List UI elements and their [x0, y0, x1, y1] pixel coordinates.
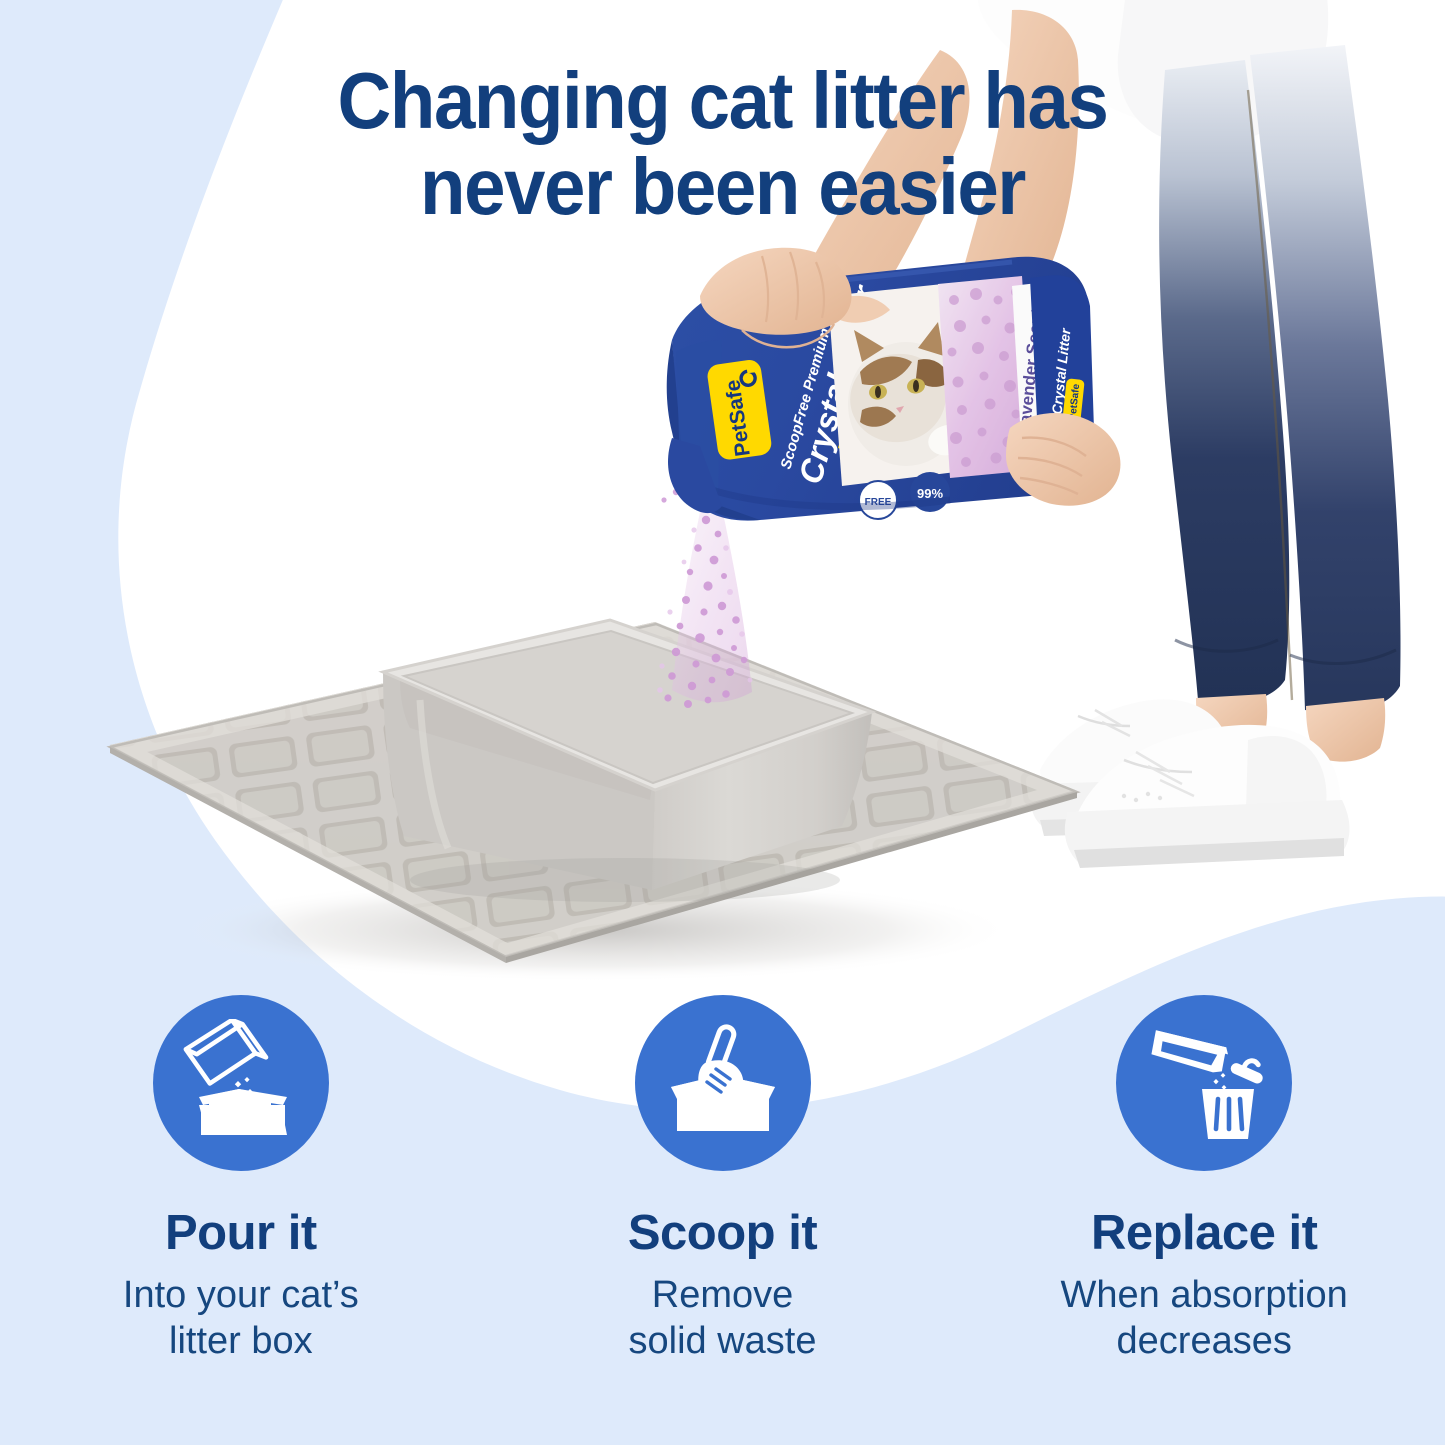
- step-replace-desc-line2: decreases: [1061, 1318, 1348, 1364]
- product-scene-photo: PetSafe ScoopFree Premium Crystal Litter…: [0, 0, 1445, 1000]
- scoop-litter-icon: [659, 1019, 787, 1147]
- step-pour-circle[interactable]: [153, 995, 329, 1171]
- step-replace-title: Replace it: [1091, 1209, 1317, 1258]
- step-pour-desc-line1: Into your cat’s: [123, 1272, 359, 1318]
- infographic-canvas: Changing cat litter has never been easie…: [0, 0, 1445, 1445]
- step-scoop-title: Scoop it: [628, 1209, 817, 1258]
- step-scoop: Scoop it Remove solid waste: [482, 995, 964, 1445]
- pour-litter-icon: [177, 1019, 305, 1147]
- steps-row: Pour it Into your cat’s litter box: [0, 995, 1445, 1445]
- step-pour: Pour it Into your cat’s litter box: [0, 995, 482, 1445]
- step-pour-title: Pour it: [165, 1209, 317, 1258]
- replace-litter-icon: [1140, 1019, 1268, 1147]
- step-replace-description: When absorption decreases: [1061, 1272, 1348, 1365]
- step-pour-description: Into your cat’s litter box: [123, 1272, 359, 1365]
- step-replace-desc-line1: When absorption: [1061, 1272, 1348, 1318]
- step-pour-desc-line2: litter box: [123, 1318, 359, 1364]
- step-replace-circle[interactable]: [1116, 995, 1292, 1171]
- step-scoop-desc-line2: solid waste: [629, 1318, 817, 1364]
- step-replace: Replace it When absorption decreases: [963, 995, 1445, 1445]
- step-scoop-desc-line1: Remove: [629, 1272, 817, 1318]
- step-scoop-circle[interactable]: [635, 995, 811, 1171]
- step-scoop-description: Remove solid waste: [629, 1272, 817, 1365]
